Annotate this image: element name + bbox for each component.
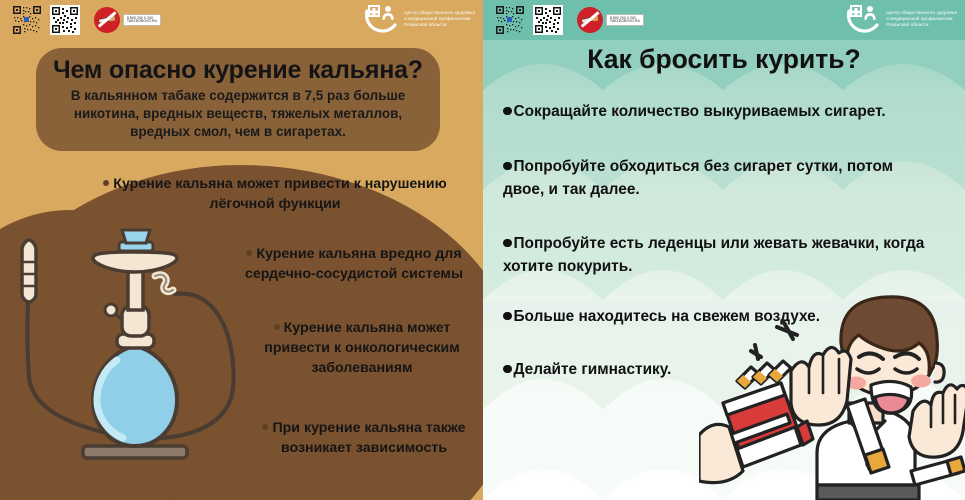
hotline-site: TAKZDOROVO.RU <box>610 20 640 23</box>
left-header-bar: 8 800 200 0 200 TAKZDOROVO.RU Центр обще… <box>0 0 483 40</box>
hotline-phone-box: 8 800 200 0 200 TAKZDOROVO.RU <box>123 14 161 27</box>
qr-code-icon-3[interactable] <box>495 5 525 35</box>
bullet-dot-icon <box>274 324 280 330</box>
hotline-phone-box-right: 8 800 200 0 200 TAKZDOROVO.RU <box>606 14 644 27</box>
qr-code-icon-2[interactable] <box>50 5 80 35</box>
right-header-bar: 8 800 200 0 200 TAKZDOROVO.RU Центр обще… <box>483 0 965 40</box>
no-smoking-icon <box>94 7 120 33</box>
right-bullet-1-text: Сокращайте количество выкуриваемых сигар… <box>514 103 886 120</box>
right-bullet-2: Попробуйте обходиться без сигарет сутки,… <box>503 155 933 202</box>
left-bullet-1: Курение кальяна может привести к нарушен… <box>80 174 470 214</box>
poster-canvas: 8 800 200 0 200 TAKZDOROVO.RU Центр обще… <box>0 0 965 500</box>
org-name-left: Центр общественного здоровья и медицинск… <box>404 10 475 27</box>
hotline-site: TAKZDOROVO.RU <box>127 20 157 23</box>
org-logo-left: Центр общественного здоровья и медицинск… <box>365 3 475 35</box>
bullet-dot-icon <box>262 424 268 430</box>
left-bullet-4: При курение кальяна также возникает зави… <box>250 418 478 458</box>
right-bullet-2-text: Попробуйте обходиться без сигарет сутки,… <box>503 158 893 198</box>
left-bullet-3: Курение кальяна может привести к онколог… <box>246 318 478 378</box>
right-bullet-3: Попробуйте есть леденцы или жевать жевач… <box>503 232 933 279</box>
org-line-3: Рязанской области <box>886 22 957 28</box>
left-title-box: Чем опасно курение кальяна? В кальянном … <box>36 48 440 151</box>
bullet-dot-icon <box>503 162 512 171</box>
bullet-dot-icon <box>503 107 512 116</box>
health-cross-person-icon <box>847 3 881 35</box>
hookah-icon <box>5 228 250 500</box>
left-bullet-2-text: Курение кальяна вредно для сердечно-сосу… <box>245 246 463 282</box>
bullet-dot-icon <box>246 250 252 256</box>
bullet-dot-icon <box>103 180 109 186</box>
bullet-dot-icon <box>503 365 512 374</box>
left-panel: 8 800 200 0 200 TAKZDOROVO.RU Центр обще… <box>0 0 483 500</box>
bullet-dot-icon <box>503 239 512 248</box>
right-bullet-3-text: Попробуйте есть леденцы или жевать жевач… <box>503 235 924 275</box>
man-refusing-cigarettes-icon <box>699 285 965 500</box>
right-bullet-1: Сокращайте количество выкуриваемых сигар… <box>503 100 963 123</box>
org-name-right: Центр общественного здоровья и медицинск… <box>886 10 957 27</box>
bullet-dot-icon <box>503 312 512 321</box>
org-line-2: и медицинской профилактики <box>886 16 957 22</box>
org-line-2: и медицинской профилактики <box>404 16 475 22</box>
no-smoking-icon <box>577 7 603 33</box>
health-cross-person-icon <box>365 3 399 35</box>
left-bullet-2: Курение кальяна вредно для сердечно-сосу… <box>230 244 478 284</box>
no-smoking-badge: 8 800 200 0 200 TAKZDOROVO.RU <box>94 7 161 33</box>
right-panel-title: Как бросить курить? <box>483 44 965 75</box>
qr-code-icon-4[interactable] <box>533 5 563 35</box>
left-bullet-4-text: При курение кальяна также возникает зави… <box>272 420 465 456</box>
left-bullet-3-text: Курение кальяна может привести к онколог… <box>264 320 459 376</box>
org-logo-right: Центр общественного здоровья и медицинск… <box>847 3 957 35</box>
org-line-3: Рязанской области <box>404 22 475 28</box>
left-panel-subtitle: В кальянном табаке содержится в 7,5 раз … <box>52 87 424 140</box>
left-bullet-1-text: Курение кальяна может привести к нарушен… <box>113 176 446 212</box>
no-smoking-badge-right: 8 800 200 0 200 TAKZDOROVO.RU <box>577 7 644 33</box>
qr-code-icon-1[interactable] <box>12 5 42 35</box>
left-panel-title: Чем опасно курение кальяна? <box>53 56 423 85</box>
right-bullet-5-text: Делайте гимнастику. <box>514 361 672 378</box>
